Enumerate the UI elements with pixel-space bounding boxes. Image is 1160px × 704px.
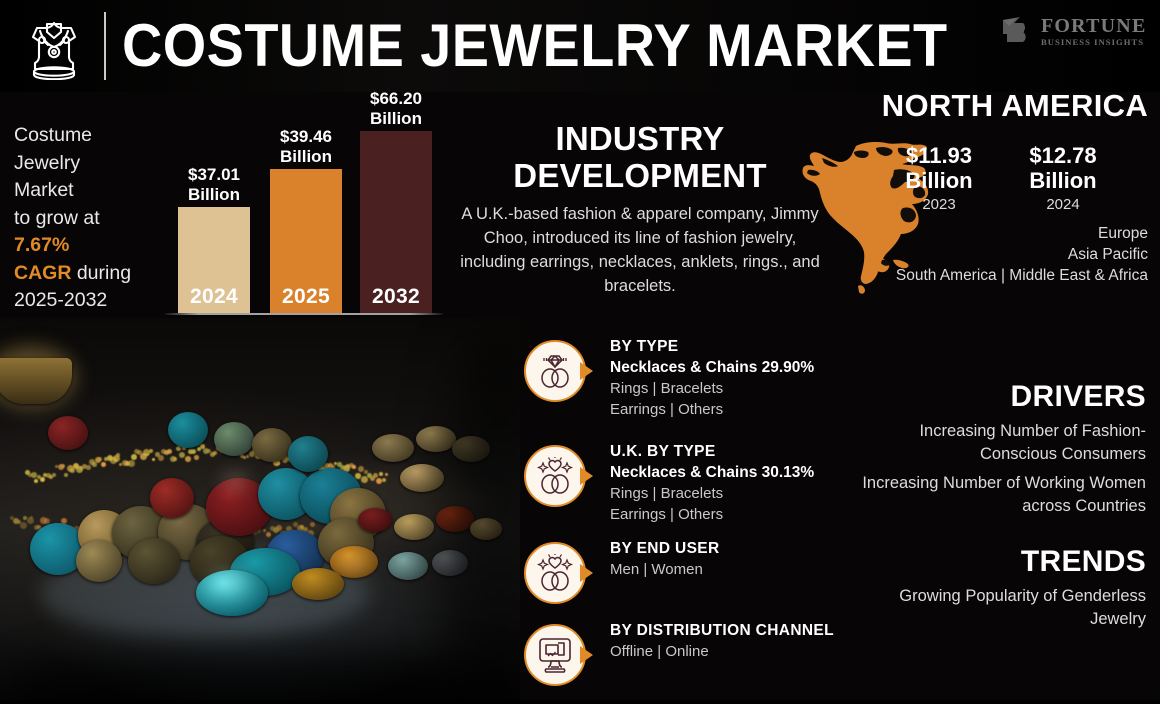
north-america-title: NORTH AMERICA — [882, 88, 1148, 124]
photo-detail — [76, 540, 122, 582]
na-stat-2024-amount: $12.78 — [1008, 143, 1118, 168]
bar-value-2024-unit: Billion — [164, 185, 264, 205]
photo-detail — [252, 428, 292, 462]
photo-detail — [52, 473, 56, 477]
photo-detail — [40, 477, 45, 482]
photo-detail — [149, 449, 153, 453]
photo-detail — [101, 462, 106, 467]
na-stat-2024-year: 2024 — [1008, 196, 1118, 213]
cagr-during: during — [71, 262, 131, 284]
photo-detail — [131, 454, 137, 460]
page-title: COSTUME JEWELRY MARKET — [122, 11, 948, 81]
cagr-line: CAGR during — [14, 260, 160, 288]
segment-by-type: BY TYPE Necklaces & Chains 29.90% Rings … — [520, 340, 880, 420]
segment-sub-2: Earrings | Others — [610, 504, 880, 525]
photo-detail — [372, 434, 414, 462]
photo-detail — [20, 522, 27, 529]
photo-detail — [394, 514, 434, 540]
jewelry-photo-background — [0, 318, 520, 700]
segment-title: BY END USER — [610, 538, 880, 559]
monitor-icon — [537, 636, 573, 674]
photo-detail — [379, 472, 383, 476]
na-stat-2023-year: 2023 — [884, 196, 994, 213]
region-south-america-mea: South America | Middle East & Africa — [858, 265, 1148, 286]
photo-detail — [355, 473, 361, 479]
header-bar: COSTUME JEWELRY MARKET FORTUNE BUSINESS … — [0, 0, 1160, 92]
segment-sub-1: Rings | Bracelets — [610, 483, 880, 504]
segment-title: BY TYPE — [610, 336, 880, 357]
industry-title-line-1: INDUSTRY — [455, 120, 825, 157]
photo-detail — [382, 478, 386, 482]
photo-detail — [98, 457, 102, 461]
intro-line-2: Jewelry — [14, 150, 160, 178]
photo-detail — [440, 318, 520, 700]
photo-detail — [213, 451, 217, 455]
segment-sub-1: Men | Women — [610, 559, 880, 580]
photo-detail — [128, 460, 135, 467]
photo-detail — [288, 436, 328, 472]
photo-detail — [358, 508, 392, 532]
cagr-label: CAGR — [14, 262, 71, 284]
photo-detail — [0, 648, 520, 700]
segment-sub-2: Earrings | Others — [610, 399, 880, 420]
drivers-section: DRIVERS Increasing Number of Fashion-Con… — [846, 380, 1146, 518]
chart-baseline — [165, 313, 443, 315]
photo-detail — [146, 453, 149, 456]
segment-title: BY DISTRIBUTION CHANNEL — [610, 620, 880, 641]
photo-detail — [222, 476, 248, 486]
photo-detail — [86, 465, 91, 470]
trends-item: Growing Popularity of Genderless Jewelry — [846, 585, 1146, 631]
badge-pointer — [580, 564, 593, 582]
bar-year-2032: 2032 — [360, 285, 432, 309]
jewelry-bust-icon — [18, 14, 90, 80]
photo-detail — [266, 532, 271, 537]
industry-development-body: A U.K.-based fashion & apparel company, … — [455, 202, 825, 298]
fb-monogram-icon — [1000, 14, 1034, 48]
trends-title: TRENDS — [846, 545, 1146, 579]
rings-sparkle-icon — [537, 457, 573, 495]
trends-section: TRENDS Growing Popularity of Genderless … — [846, 545, 1146, 631]
region-asia-pacific: Asia Pacific — [858, 244, 1148, 265]
na-stat-2023: $11.93 Billion 2023 — [884, 143, 994, 213]
photo-detail — [400, 464, 444, 492]
bar-year-2025: 2025 — [270, 285, 342, 309]
driver-item: Increasing Number of Fashion-Conscious C… — [846, 420, 1146, 466]
brand-name: FORTUNE — [1041, 16, 1146, 36]
na-stat-2023-unit: Billion — [884, 168, 994, 193]
badge-pointer — [580, 362, 593, 380]
photo-detail — [168, 412, 208, 448]
segment-by-distribution-channel: BY DISTRIBUTION CHANNEL Offline | Online — [520, 624, 880, 704]
forecast-period: 2025-2032 — [14, 287, 160, 315]
bar-value-2032-unit: Billion — [346, 109, 446, 129]
badge-pointer — [580, 467, 593, 485]
brand-subtitle: BUSINESS INSIGHTS — [1041, 38, 1146, 47]
photo-detail — [388, 552, 428, 580]
segment-uk-by-type: U.K. BY TYPE Necklaces & Chains 30.13% R… — [520, 445, 880, 525]
intro-line-4: to grow at — [14, 205, 160, 233]
segment-title: U.K. BY TYPE — [610, 441, 880, 462]
segment-text: BY END USER Men | Women — [610, 538, 880, 580]
photo-detail — [150, 478, 194, 518]
segment-by-end-user: BY END USER Men | Women — [520, 542, 880, 622]
bar-value-2032-amount: $66.20 — [346, 89, 446, 109]
region-europe: Europe — [858, 223, 1148, 244]
segment-badge — [524, 624, 586, 686]
intro-line-1: Costume — [14, 122, 160, 150]
intro-line-3: Market — [14, 177, 160, 205]
segment-lead: Necklaces & Chains 30.13% — [610, 462, 880, 483]
photo-detail — [173, 457, 177, 461]
photo-detail — [191, 449, 196, 454]
photo-detail — [340, 558, 368, 568]
photo-detail — [31, 472, 37, 478]
photo-detail — [48, 416, 88, 450]
segment-badge — [524, 445, 586, 507]
segment-lead: Necklaces & Chains 29.90% — [610, 357, 880, 378]
photo-detail — [167, 449, 172, 454]
bar-value-2025-amount: $39.46 — [256, 127, 356, 147]
segment-sub-1: Rings | Bracelets — [610, 378, 880, 399]
photo-detail — [185, 456, 191, 462]
photo-detail — [352, 465, 356, 469]
photo-detail — [210, 576, 244, 588]
brand-logo: FORTUNE BUSINESS INSIGHTS — [1000, 8, 1152, 54]
segment-sub-1: Offline | Online — [610, 641, 880, 662]
bar-value-2024: $37.01 Billion — [164, 165, 264, 205]
badge-pointer — [580, 646, 593, 664]
na-stat-2024: $12.78 Billion 2024 — [1008, 143, 1118, 213]
photo-detail — [64, 473, 68, 477]
photo-detail — [152, 458, 155, 461]
photo-detail — [128, 538, 180, 584]
segment-badge — [524, 340, 586, 402]
bar-value-2024-amount: $37.01 — [164, 165, 264, 185]
segment-badge — [524, 542, 586, 604]
bar-value-2032: $66.20 Billion — [346, 89, 446, 129]
bar-value-2025: $39.46 Billion — [256, 127, 356, 167]
industry-title-line-2: DEVELOPMENT — [455, 157, 825, 194]
bar-value-2025-unit: Billion — [256, 147, 356, 167]
rings-heart-icon — [537, 554, 573, 592]
rings-diamond-icon — [537, 352, 573, 390]
intro-text: Costume Jewelry Market to grow at 7.67% … — [14, 122, 160, 315]
industry-development-title: INDUSTRY DEVELOPMENT — [455, 120, 825, 194]
na-stat-2024-unit: Billion — [1008, 168, 1118, 193]
driver-item: Increasing Number of Working Women acros… — [846, 472, 1146, 518]
photo-detail — [61, 464, 65, 468]
photo-detail — [194, 455, 199, 460]
na-other-regions: Europe Asia Pacific South America | Midd… — [858, 223, 1148, 286]
segment-text: U.K. BY TYPE Necklaces & Chains 30.13% R… — [610, 441, 880, 525]
photo-detail — [276, 525, 282, 531]
header-divider — [104, 12, 106, 80]
photo-detail — [34, 479, 38, 483]
industry-development-section: INDUSTRY DEVELOPMENT A U.K.-based fashio… — [455, 120, 825, 298]
segment-text: BY DISTRIBUTION CHANNEL Offline | Online — [610, 620, 880, 662]
na-stat-2023-amount: $11.93 — [884, 143, 994, 168]
photo-detail — [158, 455, 164, 461]
photo-detail — [116, 453, 120, 457]
drivers-title: DRIVERS — [846, 380, 1146, 414]
bar-year-2024: 2024 — [178, 285, 250, 309]
market-size-bar-chart: $37.01 Billion 2024 $39.46 Billion 2025 … — [160, 100, 450, 320]
segment-text: BY TYPE Necklaces & Chains 29.90% Rings … — [610, 336, 880, 420]
photo-detail — [263, 529, 266, 532]
photo-detail — [292, 568, 344, 600]
cagr-value: 7.67% — [14, 232, 160, 260]
photo-detail — [214, 422, 254, 456]
